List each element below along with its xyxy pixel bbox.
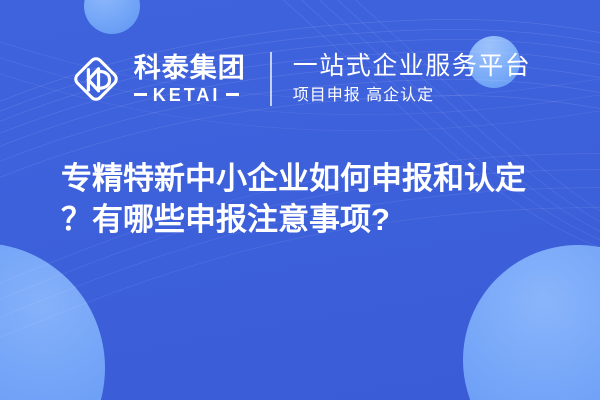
diamond-kd-monogram-icon: [69, 52, 123, 106]
dash-right-icon: [226, 93, 239, 96]
page-title: 专精特新中小企业如何申报和认定 ？有哪些申报注意事项?: [61, 158, 561, 240]
vertical-divider-icon: [270, 52, 272, 106]
tagline-sub: 项目申报 高企认定: [293, 86, 532, 106]
banner-header: 科泰集团 KETAI 一站式企业服务平台 项目申报 高企认定: [0, 44, 600, 114]
decor-circle-bottom-left: [0, 243, 105, 400]
brand-wordmark: 科泰集团 KETAI: [134, 54, 246, 103]
page-title-line-1: 专精特新中小企业如何申报和认定: [61, 158, 561, 199]
tagline-main: 一站式企业服务平台: [293, 52, 532, 82]
brand-name-en: KETAI: [153, 86, 221, 104]
promo-banner: 科泰集团 KETAI 一站式企业服务平台 项目申报 高企认定 专精特新中小企业如…: [0, 0, 600, 400]
brand-name-en-row: KETAI: [134, 86, 246, 104]
decor-circle-top-left: [84, 0, 140, 34]
tagline-block: 一站式企业服务平台 项目申报 高企认定: [293, 52, 532, 106]
dash-left-icon: [134, 93, 147, 96]
brand-name-cn: 科泰集团: [134, 54, 246, 82]
decor-circle-bottom-right: [463, 245, 600, 400]
page-title-line-2: ？有哪些申报注意事项?: [61, 199, 561, 240]
brand-logo: 科泰集团 KETAI: [69, 52, 246, 106]
